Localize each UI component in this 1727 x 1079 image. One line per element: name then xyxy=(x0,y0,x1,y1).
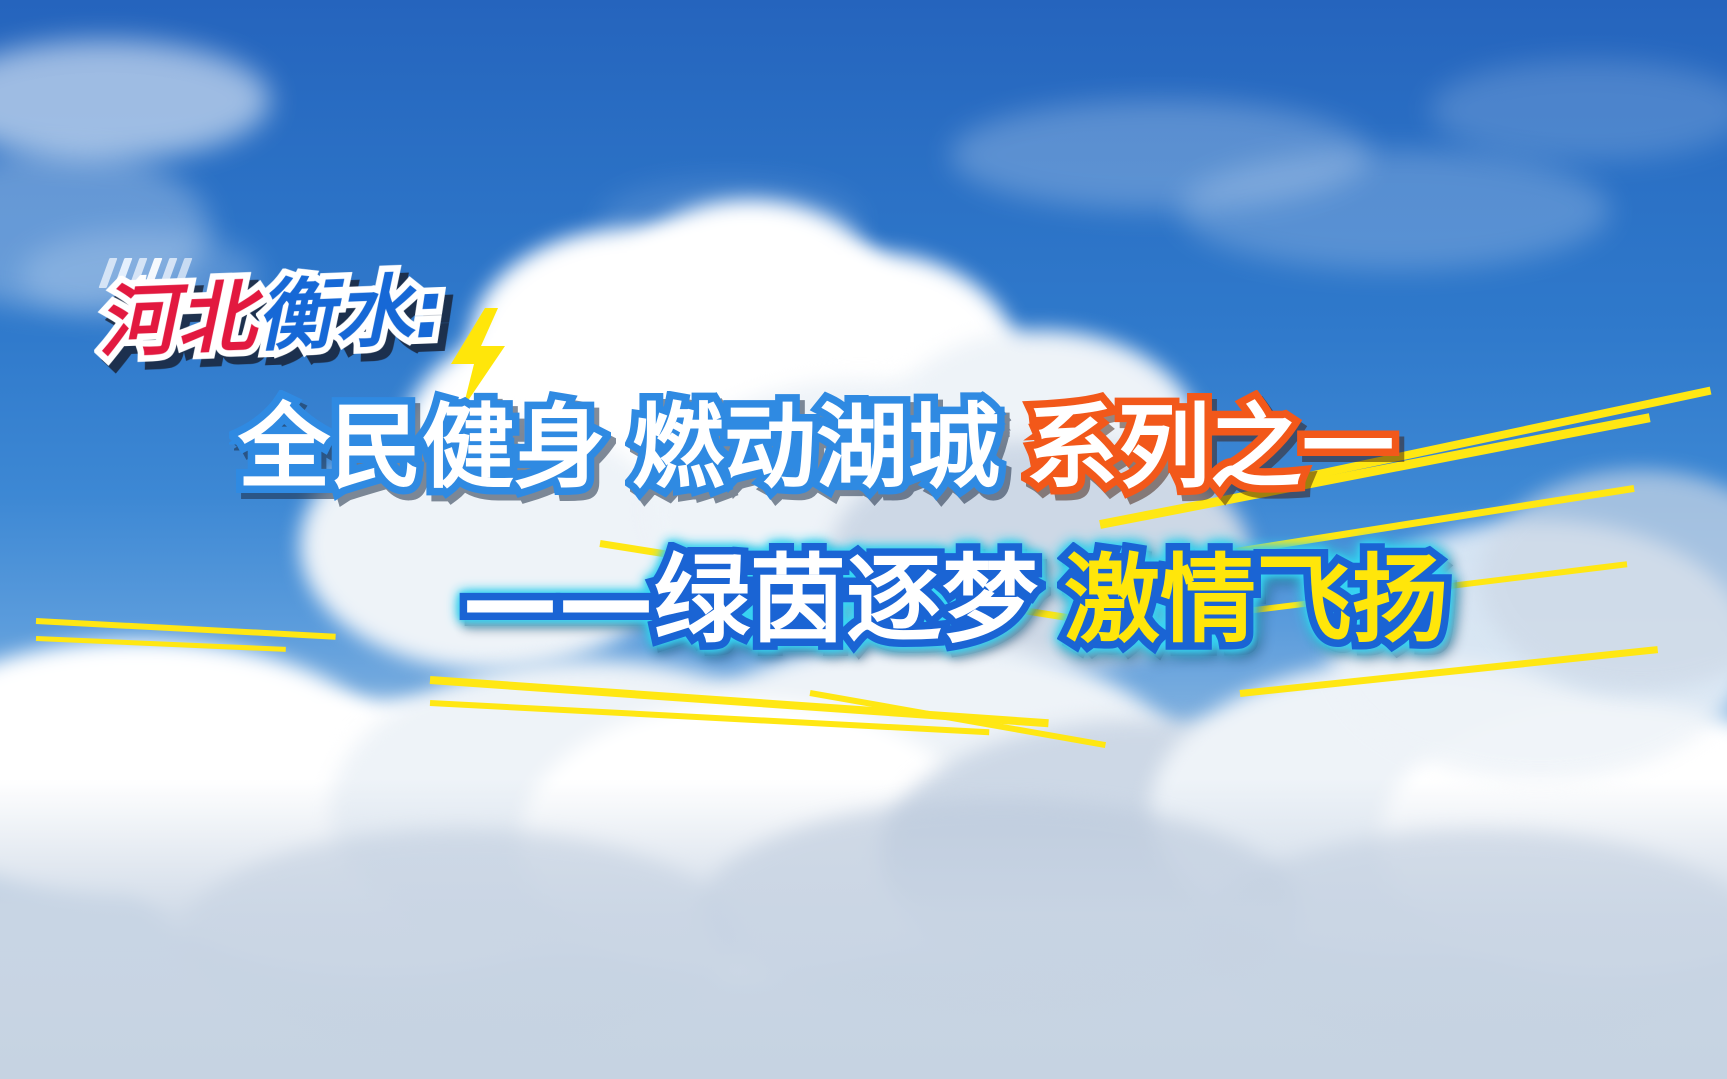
title-card-stage: 河北衡水: 全民健身燃动湖城系列之一 ——绿茵逐梦激情飞扬 xyxy=(0,0,1727,1079)
lightning-bolt-icon xyxy=(443,308,513,408)
speed-ticks-icon xyxy=(99,258,193,288)
horizon-haze xyxy=(0,779,1727,1079)
cloud-layer xyxy=(0,0,1727,1079)
